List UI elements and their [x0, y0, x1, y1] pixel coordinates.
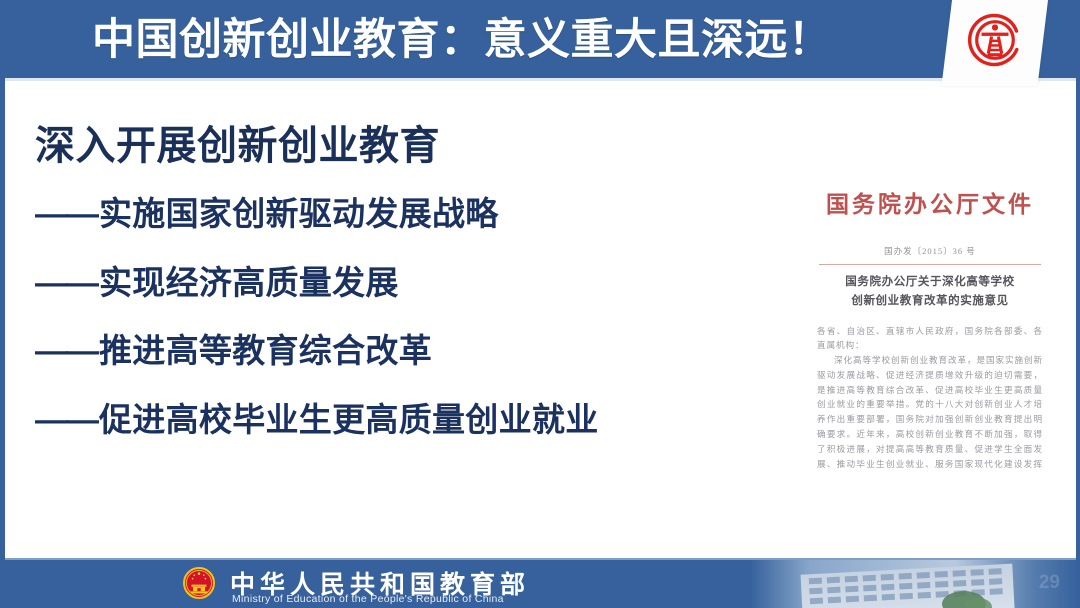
document-body-paragraph: 深化高等学校创新创业教育改革，是国家实施创新驱动发展战略、促进经济提质增效升级的… [817, 353, 1043, 473]
slide-footer-bar: 中华人民共和国教育部 Ministry of Education of the … [0, 558, 1080, 608]
university-emblem-icon [963, 8, 1027, 72]
bullet-text: 实现经济高质量发展 [99, 264, 399, 301]
document-divider-rule [819, 264, 1041, 265]
slide-frame-right [1076, 0, 1080, 608]
bullet-list: 深入开展创新创业教育 ——实施国家创新驱动发展战略 ——实现经济高质量发展 ——… [35, 125, 755, 472]
bullet-text: 促进高校毕业生更高质量创业就业 [99, 401, 599, 438]
document-body: 各省、自治区、直辖市人民政府，国务院各部委、各直属机构： 深化高等学校创新创业教… [817, 324, 1043, 474]
document-title-line-2: 创新创业教育改革的实施意见 [805, 293, 1055, 310]
slide-content-area: 深入开展创新创业教育 ——实施国家创新驱动发展战略 ——实现经济高质量发展 ——… [5, 81, 1076, 558]
bullet-item: ——实现经济高质量发展 [35, 266, 755, 301]
bullet-dash: —— [35, 401, 97, 438]
bullet-dash: —— [35, 264, 97, 301]
bullet-item: ——推进高等教育综合改革 [35, 334, 755, 369]
bullet-item: ——实施国家创新驱动发展战略 [35, 197, 755, 232]
slide-page-number: 29 [1039, 572, 1060, 594]
government-document-image: 国务院办公厅文件 国办发〔2015〕36 号 国务院办公厅关于深化高等学校 创新… [805, 173, 1055, 473]
bullet-text: 推进高等教育综合改革 [99, 332, 432, 369]
document-number: 国办发〔2015〕36 号 [805, 245, 1055, 257]
document-title-line-1: 国务院办公厅关于深化高等学校 [805, 274, 1055, 291]
slide-title: 中国创新创业教育：意义重大且深远！ [92, 11, 952, 69]
bullet-dash: —— [35, 195, 97, 232]
document-masthead: 国务院办公厅文件 [805, 185, 1055, 219]
content-heading: 深入开展创新创业教育 [35, 125, 755, 167]
national-emblem-icon [182, 566, 216, 600]
bullet-text: 实施国家创新驱动发展战略 [99, 195, 499, 232]
ministry-name-english: Ministry of Education of the People's Re… [232, 593, 504, 605]
presentation-slide: 中国创新创业教育：意义重大且深远！ 深入开展创新创业教育 ——实施 [0, 0, 1080, 608]
ministry-building-photo [750, 560, 1080, 608]
bullet-item: ——促进高校毕业生更高质量创业就业 [35, 403, 755, 438]
slide-frame-left [0, 0, 5, 608]
document-salutation: 各省、自治区、直辖市人民政府，国务院各部委、各直属机构： [817, 326, 1043, 351]
bullet-dash: —— [35, 332, 97, 369]
header-underline [0, 78, 1080, 81]
